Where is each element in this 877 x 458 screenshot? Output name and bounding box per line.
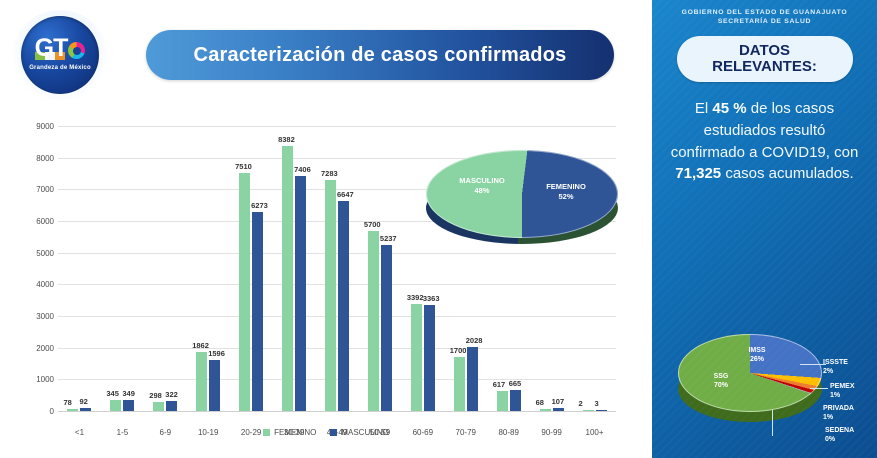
- y-axis-tick: 0: [6, 407, 54, 416]
- bar-group: [66, 126, 92, 411]
- legend-label: FEMENINO: [274, 428, 316, 437]
- x-axis-line: [58, 411, 616, 412]
- right-info-panel: GOBIERNO DEL ESTADO DE GUANAJUATO SECRET…: [652, 0, 877, 458]
- pie-slice-label-sedena: SEDENA0%: [825, 426, 873, 444]
- bar-masculino: [510, 390, 521, 411]
- pie-slice-label-pemex: PEMEX1%: [830, 382, 874, 400]
- bar-femenino: [411, 304, 422, 411]
- logo-circle: GT Grandeza de México: [21, 16, 99, 94]
- bar-masculino: [467, 347, 478, 411]
- bar-femenino: [110, 400, 121, 411]
- sex-pie-chart: MASCULINO48% FEMENINO52%: [418, 142, 626, 250]
- government-line-1: GOBIERNO DEL ESTADO DE GUANAJUATO: [652, 9, 877, 16]
- bar-femenino: [497, 391, 508, 411]
- legend-label: MASCULINO: [341, 428, 389, 437]
- pie-slice-label-issste: ISSSTE2%: [823, 358, 871, 376]
- bar-femenino: [454, 357, 465, 411]
- datos-relevantes-badge: DATOS RELEVANTES:: [677, 36, 853, 82]
- bar-femenino: [368, 231, 379, 412]
- bar-masculino: [338, 201, 349, 411]
- stat-suffix: casos acumulados.: [721, 165, 854, 182]
- logo-letters: GT: [35, 34, 68, 62]
- pie-slice-label-imss: IMSS26%: [734, 346, 780, 364]
- logo-tagline: Grandeza de México: [21, 65, 99, 71]
- stat-prefix: El: [695, 100, 713, 117]
- stat-percent: 45 %: [712, 100, 746, 117]
- bar-masculino: [295, 176, 306, 411]
- institution-pie-chart: IMSS26% SSG70% ISSSTE2% PEMEX1% PRIVADA1…: [660, 320, 870, 450]
- logo-wordmark: GT: [21, 36, 99, 61]
- pie-slice-label-masculino: MASCULINO48%: [454, 176, 510, 196]
- page-title-banner: Caracterización de casos confirmados: [146, 30, 614, 80]
- y-axis-tick: 1000: [6, 375, 54, 384]
- legend-swatch-icon: [263, 429, 270, 436]
- bar-masculino: [209, 360, 220, 411]
- bar-group: [367, 126, 393, 411]
- logo-o-icon: [68, 42, 85, 59]
- bar-femenino: [282, 146, 293, 411]
- bar-femenino: [153, 402, 164, 411]
- leader-line-sedena: [772, 410, 773, 436]
- bar-group: [195, 126, 221, 411]
- legend-swatch-icon: [330, 429, 337, 436]
- bar-femenino: [325, 180, 336, 411]
- y-axis-tick: 8000: [6, 154, 54, 163]
- bar-group: [324, 126, 350, 411]
- leader-line-pemex: [810, 388, 828, 389]
- pie-slice-label-privada: PRIVADA1%: [823, 404, 873, 422]
- bar-group: [109, 126, 135, 411]
- y-axis-tick: 4000: [6, 280, 54, 289]
- statistic-text: El 45 % de los casos estudiados resultó …: [666, 98, 863, 185]
- bar-femenino: [239, 173, 250, 411]
- page-title: Caracterización de casos confirmados: [194, 44, 567, 67]
- bar-group: [281, 126, 307, 411]
- y-axis-tick: 9000: [6, 122, 54, 131]
- bar-masculino: [166, 401, 177, 411]
- bar-chart: 0100020003000400050006000700080009000789…: [0, 112, 652, 452]
- y-axis-tick: 5000: [6, 249, 54, 258]
- bar-masculino: [424, 305, 435, 411]
- bar-masculino: [381, 245, 392, 411]
- gto-logo: GT Grandeza de México: [12, 10, 108, 102]
- leader-line-issste: [800, 364, 826, 365]
- bar-masculino: [123, 400, 134, 411]
- left-content-panel: GT Grandeza de México Caracterización de…: [0, 0, 652, 458]
- government-line-2: SECRETARÍA DE SALUD: [652, 18, 877, 25]
- y-axis-tick: 6000: [6, 217, 54, 226]
- chart-legend: FEMENINOMASCULINO: [0, 428, 652, 437]
- y-axis-tick: 7000: [6, 185, 54, 194]
- legend-item-masculino[interactable]: MASCULINO: [330, 428, 389, 437]
- legend-item-femenino[interactable]: FEMENINO: [263, 428, 316, 437]
- stat-number: 71,325: [675, 165, 721, 182]
- y-axis-tick: 3000: [6, 312, 54, 321]
- bar-femenino: [196, 352, 207, 411]
- bar-group: [238, 126, 264, 411]
- pie-slice-label-ssg: SSG70%: [698, 372, 744, 390]
- badge-line-2: RELEVANTES:: [712, 59, 817, 75]
- pie-slice-label-femenino: FEMENINO52%: [538, 182, 594, 202]
- y-axis-tick: 2000: [6, 344, 54, 353]
- bar-group: [152, 126, 178, 411]
- bar-masculino: [252, 212, 263, 411]
- badge-line-1: DATOS: [739, 43, 790, 59]
